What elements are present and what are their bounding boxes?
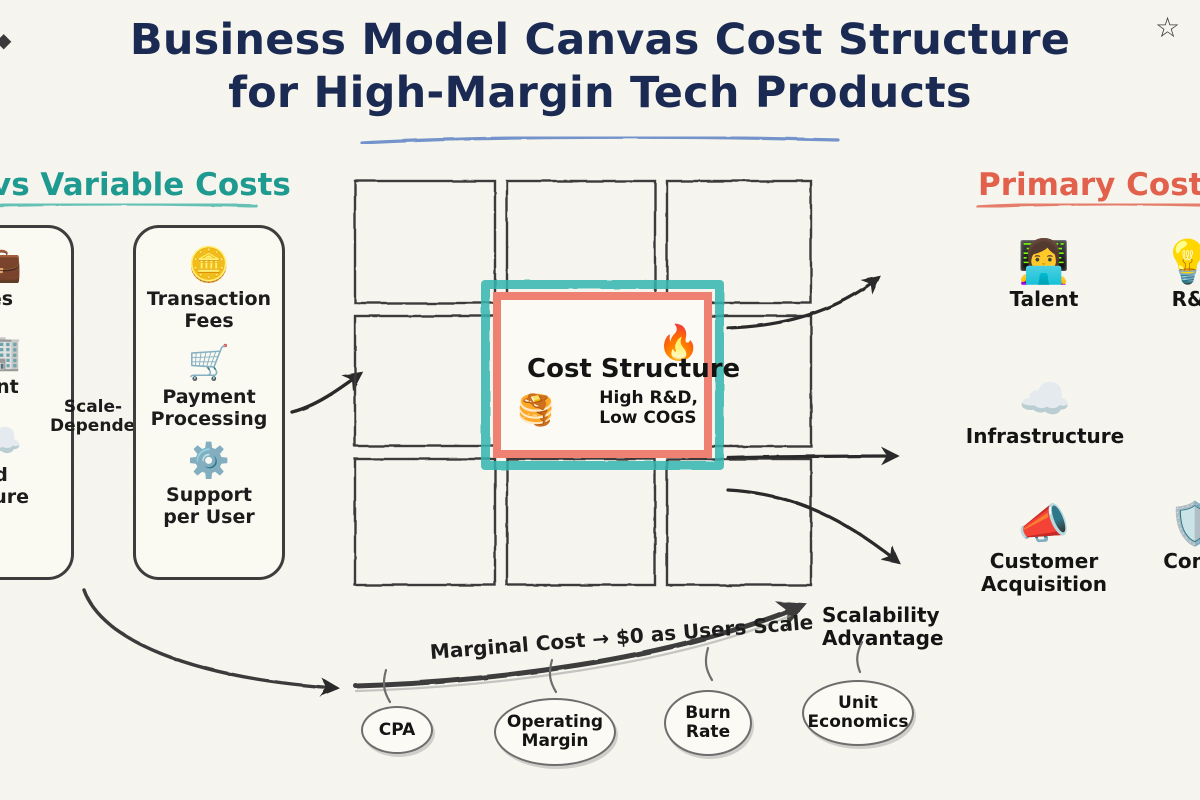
arrow-to-infrastructure [728, 456, 896, 458]
scale-dependent-connector: Scale- Dependent [50, 372, 136, 436]
cost-structure-block[interactable]: 🔥 Cost Structure 🥞 High R&D, Low COGS [501, 300, 704, 450]
office-building-icon: 🏢 [0, 330, 63, 376]
cloud-server-icon: ☁️ [952, 375, 1138, 425]
right-heading-underline [976, 202, 1200, 210]
cost-structure-subtitle: High R&D, Low COGS [599, 388, 698, 428]
arrow-to-talent [728, 278, 878, 328]
canvas-cell [355, 181, 495, 303]
driver-label: Customer Acquisition [968, 550, 1120, 596]
driver-label: Talent [968, 288, 1120, 311]
driver-compliance[interactable]: 🛡️ Comp [1140, 500, 1200, 573]
people-with-laptop-icon: 👩‍💻 [968, 238, 1120, 288]
driver-label: Comp [1140, 550, 1200, 573]
fixed-cost-item-label: d cture [0, 464, 63, 508]
variable-cost-item-label: Transaction Fees [144, 288, 274, 332]
scale-dependent-label: Scale- Dependent [50, 398, 136, 436]
gear-icon: ⚙️ [144, 438, 274, 484]
left-section-heading: d vs Variable Costs [0, 168, 291, 202]
variable-cost-item-label: Payment Processing [144, 386, 274, 430]
shopping-cart-icon: 🛒 [144, 340, 274, 386]
megaphone-icon: 📣 [968, 500, 1120, 550]
lightbulb-icon: 💡 [1138, 238, 1200, 288]
variable-costs-card[interactable]: 🪙 Transaction Fees 🛒 Payment Processing … [133, 225, 285, 580]
driver-infrastructure[interactable]: ☁️ Infrastructure [952, 375, 1138, 448]
page-title: Business Model Canvas Cost Structure for… [0, 14, 1200, 120]
page-title-line-1: Business Model Canvas Cost Structure [0, 14, 1200, 67]
shield-icon: 🛡️ [1140, 500, 1200, 550]
canvas-cell [355, 459, 495, 585]
double-headed-arrow-icon [50, 372, 136, 394]
coin-stack-icon: 🥞 [517, 396, 554, 426]
driver-label: Infrastructure [952, 425, 1138, 448]
driver-rd[interactable]: 💡 R& [1138, 238, 1200, 311]
coins-icon: 🪙 [144, 242, 274, 288]
metric-bubble-burn-rate[interactable]: Burn Rate [664, 690, 752, 756]
briefcase-icon: 💼 [0, 242, 63, 288]
variable-cost-item: 🪙 Transaction Fees [144, 242, 274, 332]
metric-bubble-cpa[interactable]: CPA [361, 706, 433, 754]
metric-bubble-unit-economics[interactable]: Unit Economics [802, 680, 914, 746]
variable-cost-item-label: Support per User [144, 484, 274, 528]
arrow-to-scalability-curve [40, 570, 370, 700]
canvas-cell [507, 459, 655, 585]
fixed-cost-item: 💼 es [0, 242, 63, 310]
title-underline [360, 136, 840, 146]
page-title-line-2: for High-Margin Tech Products [0, 67, 1200, 120]
canvas-cell [355, 316, 495, 446]
variable-cost-item: ⚙️ Support per User [144, 438, 274, 528]
fixed-cost-item-label: es [0, 288, 63, 310]
metric-bubble-operating-margin[interactable]: Operating Margin [494, 698, 616, 766]
driver-label: R& [1138, 288, 1200, 311]
variable-cost-item: 🛒 Payment Processing [144, 340, 274, 430]
cost-structure-title: Cost Structure [527, 354, 740, 384]
left-heading-underline [0, 202, 260, 210]
driver-talent[interactable]: 👩‍💻 Talent [968, 238, 1120, 311]
right-section-heading: Primary Cost Dr [978, 168, 1200, 202]
arrow-to-customer-acquisition [728, 490, 898, 562]
driver-customer-acquisition[interactable]: 📣 Customer Acquisition [968, 500, 1120, 596]
